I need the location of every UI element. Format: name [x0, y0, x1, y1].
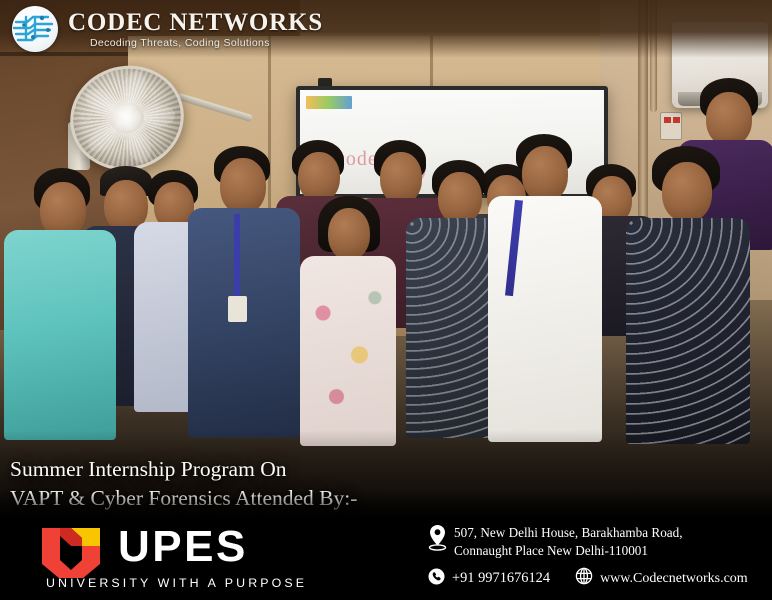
codec-circuit-logo-icon: [12, 6, 58, 52]
upes-u-mark-icon: [40, 526, 102, 578]
footer-fade: [0, 490, 772, 520]
brand-tagline: Decoding Threats, Coding Solutions: [68, 38, 323, 49]
map-pin-icon: [428, 524, 447, 557]
id-card: [228, 296, 247, 322]
upes-wordmark: UPES: [118, 526, 307, 568]
address-line-2: Connaught Place New Delhi-110001: [454, 543, 648, 558]
caption-line-1: Summer Internship Program On: [10, 455, 357, 484]
phone-icon: [428, 568, 445, 590]
upes-logo: UPES UNIVERSITY WITH A PURPOSE: [40, 526, 307, 590]
promo-poster: codec: [0, 0, 772, 600]
contact-block: 507, New Delhi House, Barakhamba Road, C…: [428, 524, 748, 590]
footer-bar: UPES UNIVERSITY WITH A PURPOSE 507, New …: [0, 516, 772, 600]
wall-switch-plate: [660, 112, 682, 140]
phone-number[interactable]: +91 9971676124: [452, 570, 550, 587]
screen-badge: [306, 96, 352, 109]
website-url[interactable]: www.Codecnetworks.com: [600, 571, 748, 587]
address-line-1: 507, New Delhi House, Barakhamba Road,: [454, 525, 683, 540]
brand-name: CODEC NETWORKS: [68, 10, 323, 35]
address: 507, New Delhi House, Barakhamba Road, C…: [454, 524, 683, 560]
brand-header: CODEC NETWORKS Decoding Threats, Coding …: [0, 0, 772, 58]
lanyard: [234, 214, 240, 300]
globe-icon: [575, 567, 593, 590]
